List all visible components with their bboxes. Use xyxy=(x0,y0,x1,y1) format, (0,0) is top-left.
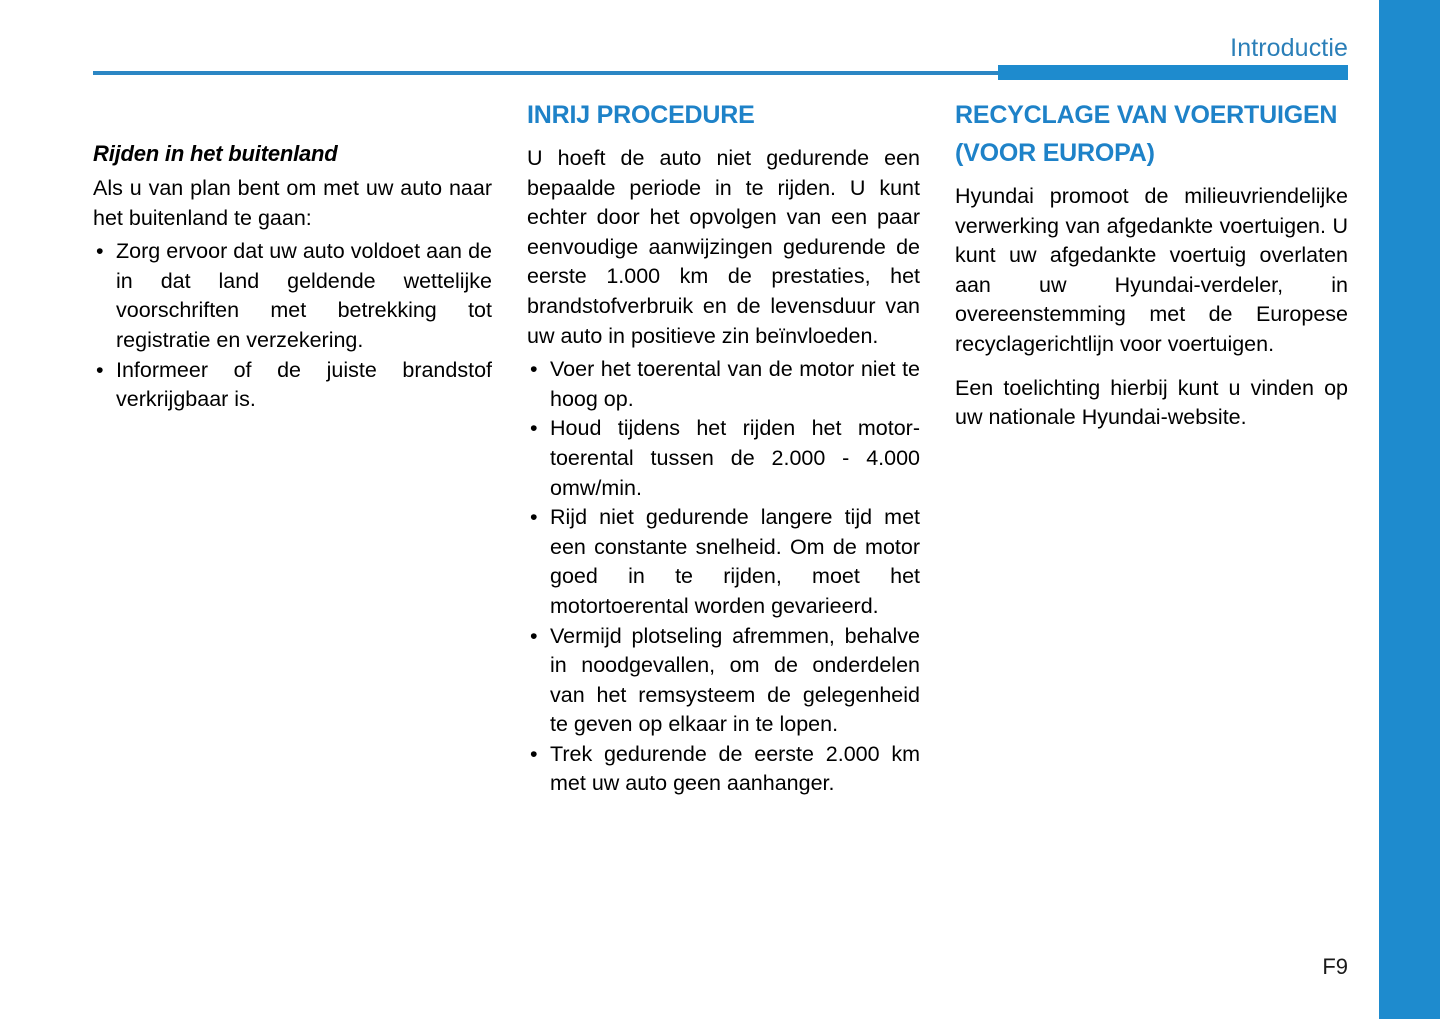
list-item-label: Voer het toerental van de motor niet te … xyxy=(550,357,920,411)
list-item: •Rijd niet gedurende langere tijd met ee… xyxy=(527,503,920,621)
bullet-icon: • xyxy=(530,740,538,770)
list-item-label: Informeer of de juiste brandstof verkrij… xyxy=(116,358,492,412)
paragraph-inrij-intro: U hoeft de auto niet gedurende een bepaa… xyxy=(527,144,920,351)
page-header-title: Introductie xyxy=(900,33,1348,63)
header-rule-thin xyxy=(93,71,999,75)
subsection-heading-driving-abroad: Rijden in het buitenland xyxy=(93,96,492,168)
bullet-icon: • xyxy=(530,414,538,444)
list-item-label: Zorg ervoor dat uw auto voldoet aan de i… xyxy=(116,239,492,352)
bullet-icon: • xyxy=(530,622,538,652)
paragraph-driving-abroad-intro: Als u van plan bent om met uw auto naar … xyxy=(93,174,492,233)
list-item: •Informeer of de juiste brandstof verkri… xyxy=(93,356,492,415)
content-column-middle: INRIJ PROCEDURE U hoeft de auto niet ged… xyxy=(527,96,920,799)
bullet-icon: • xyxy=(96,237,104,267)
list-item-label: Rijd niet gedurende langere tijd met een… xyxy=(550,505,920,618)
bullet-icon: • xyxy=(530,355,538,385)
list-item-label: Vermijd plotseling afremmen, be­halve in… xyxy=(550,624,920,737)
section-heading-inrij-procedure: INRIJ PROCEDURE xyxy=(527,96,920,134)
bullet-list-inrij-procedure: •Voer het toerental van de motor niet te… xyxy=(527,355,920,799)
header-rule-thick xyxy=(998,65,1348,80)
paragraph-recyclage-2: Een toelichting hierbij kunt u vinden op… xyxy=(955,374,1348,433)
list-item: •Zorg ervoor dat uw auto voldoet aan de … xyxy=(93,237,492,355)
list-item: •Voer het toerental van de motor niet te… xyxy=(527,355,920,414)
list-item: •Trek gedurende de eerste 2.000 km met u… xyxy=(527,740,920,799)
paragraph-recyclage-1: Hyundai promoot de milieuvriendelij­ke v… xyxy=(955,182,1348,360)
content-column-left: Rijden in het buitenland Als u van plan … xyxy=(93,96,492,415)
bullet-icon: • xyxy=(96,356,104,386)
list-item: •Houd tijdens het rijden het motor­toere… xyxy=(527,414,920,503)
document-page: Introductie Rijden in het buitenland Als… xyxy=(0,0,1445,1019)
bullet-icon: • xyxy=(530,503,538,533)
page-edge-accent-strip xyxy=(1379,0,1440,1019)
page-number: F9 xyxy=(1240,954,1348,980)
bullet-list-driving-abroad: •Zorg ervoor dat uw auto voldoet aan de … xyxy=(93,237,492,415)
list-item-label: Houd tijdens het rijden het motor­toeren… xyxy=(550,416,920,499)
list-item-label: Trek gedurende de eerste 2.000 km met uw… xyxy=(550,742,920,796)
list-item: •Vermijd plotseling afremmen, be­halve i… xyxy=(527,622,920,740)
content-column-right: RECYCLAGE VAN VOER­TUIGEN (VOOR EUROPA) … xyxy=(955,96,1348,433)
section-heading-recyclage: RECYCLAGE VAN VOER­TUIGEN (VOOR EUROPA) xyxy=(955,96,1348,172)
